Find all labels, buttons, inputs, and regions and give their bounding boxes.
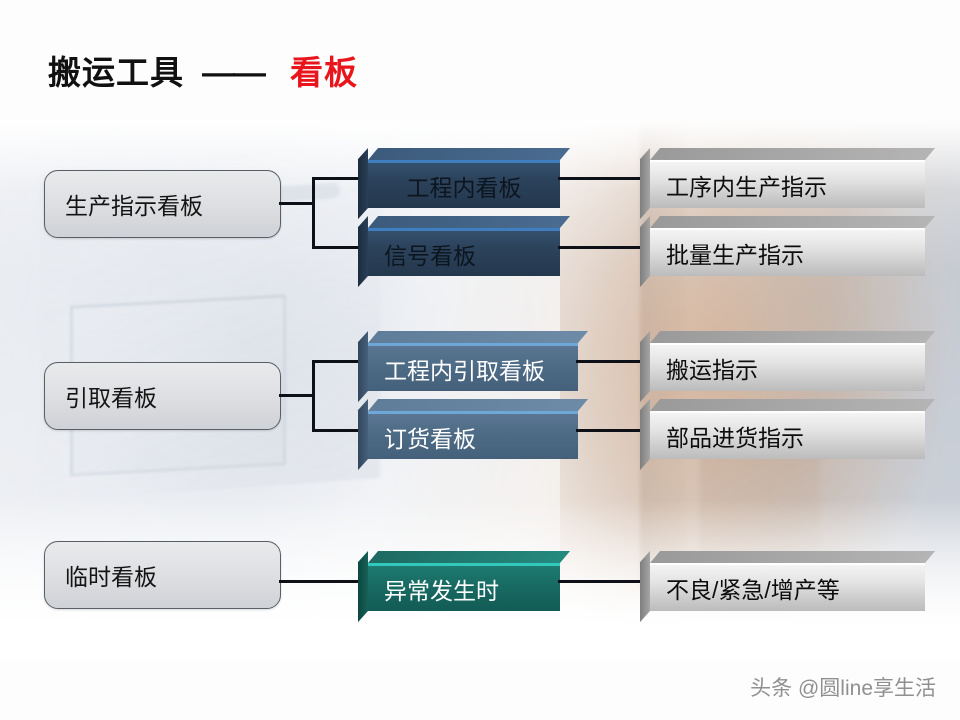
instruction-box-3a-left-bevel <box>640 551 650 622</box>
connector-stem-3 <box>279 580 362 583</box>
kanban-box-2a-left-bevel <box>358 331 368 402</box>
page-title-dash: —— <box>202 54 264 92</box>
kanban-box-2b-left-bevel <box>358 399 368 470</box>
instruction-box-1b-face: 批量生产指示 <box>650 228 925 276</box>
kanban-label-1a: 工程内看板 <box>368 169 560 203</box>
connector-mid-right-1a <box>558 177 646 180</box>
instruction-box-2b[interactable]: 部品进货指示 <box>640 399 925 459</box>
kanban-box-2a[interactable]: 工程内引取看板 <box>358 331 578 391</box>
instruction-box-1a-face: 工序内生产指示 <box>650 160 925 208</box>
slide-canvas: 搬运工具——看板 生产指示看板 工程内看板 信号看板 工序内生产指示 <box>0 0 960 720</box>
category-box-2[interactable]: 引取看板 <box>44 362 281 430</box>
instruction-box-2b-top-bevel <box>650 399 935 411</box>
connector-branch-2b <box>312 429 362 432</box>
category-box-3[interactable]: 临时看板 <box>44 541 281 609</box>
kanban-label-1b: 信号看板 <box>368 237 476 271</box>
connector-branch-1b <box>312 246 362 249</box>
connector-branch-1a <box>312 177 362 180</box>
kanban-box-1a-top-bevel <box>368 148 570 160</box>
connector-mid-right-2a <box>576 360 646 363</box>
kanban-label-2b: 订货看板 <box>368 420 476 454</box>
category-label-2: 引取看板 <box>45 379 157 413</box>
kanban-box-3a-face: 异常发生时 <box>368 563 560 611</box>
category-label-1: 生产指示看板 <box>45 187 203 221</box>
instruction-label-1a: 工序内生产指示 <box>650 168 827 202</box>
category-box-1[interactable]: 生产指示看板 <box>44 170 281 238</box>
instruction-box-1a[interactable]: 工序内生产指示 <box>640 148 925 208</box>
page-title-accent: 看板 <box>290 54 358 91</box>
instruction-box-3a[interactable]: 不良/紧急/增产等 <box>640 551 925 611</box>
kanban-label-2a: 工程内引取看板 <box>368 352 545 386</box>
kanban-box-2a-top-bevel <box>368 331 588 343</box>
connector-mid-right-2b <box>576 429 646 432</box>
kanban-box-2b-top-bevel <box>368 399 588 411</box>
instruction-box-1b[interactable]: 批量生产指示 <box>640 216 925 276</box>
instruction-box-2a-face: 搬运指示 <box>650 343 925 391</box>
instruction-box-3a-face: 不良/紧急/增产等 <box>650 563 925 611</box>
connector-branch-2a <box>312 360 362 363</box>
connector-stem-1 <box>279 202 314 205</box>
connector-stem-2 <box>279 394 314 397</box>
kanban-box-1a-face: 工程内看板 <box>368 160 560 208</box>
connector-mid-right-3a <box>558 580 646 583</box>
instruction-box-3a-top-bevel <box>650 551 935 563</box>
kanban-box-1b-face: 信号看板 <box>368 228 560 276</box>
instruction-box-1b-top-bevel <box>650 216 935 228</box>
instruction-box-2a[interactable]: 搬运指示 <box>640 331 925 391</box>
kanban-box-1a-left-bevel <box>358 148 368 219</box>
kanban-box-1a[interactable]: 工程内看板 <box>358 148 560 208</box>
connector-mid-right-1b <box>558 246 646 249</box>
kanban-box-1b-top-bevel <box>368 216 570 228</box>
instruction-label-2a: 搬运指示 <box>650 351 758 385</box>
kanban-box-2b-face: 订货看板 <box>368 411 578 459</box>
instruction-box-2a-top-bevel <box>650 331 935 343</box>
kanban-box-1b[interactable]: 信号看板 <box>358 216 560 276</box>
page-title: 搬运工具——看板 <box>48 46 358 94</box>
connector-spine-1 <box>312 178 315 248</box>
instruction-box-1b-left-bevel <box>640 216 650 287</box>
page-title-main: 搬运工具 <box>48 54 184 91</box>
instruction-box-2b-left-bevel <box>640 399 650 470</box>
instruction-box-2b-face: 部品进货指示 <box>650 411 925 459</box>
instruction-box-2a-left-bevel <box>640 331 650 402</box>
kanban-box-2b[interactable]: 订货看板 <box>358 399 578 459</box>
instruction-box-1a-top-bevel <box>650 148 935 160</box>
kanban-box-3a-left-bevel <box>358 551 368 622</box>
instruction-label-3a: 不良/紧急/增产等 <box>650 571 840 605</box>
kanban-box-1b-left-bevel <box>358 216 368 287</box>
instruction-box-1a-left-bevel <box>640 148 650 219</box>
instruction-label-1b: 批量生产指示 <box>650 236 804 270</box>
kanban-box-3a[interactable]: 异常发生时 <box>358 551 560 611</box>
connector-spine-2 <box>312 361 315 431</box>
kanban-box-2a-face: 工程内引取看板 <box>368 343 578 391</box>
instruction-label-2b: 部品进货指示 <box>650 419 804 453</box>
kanban-box-3a-top-bevel <box>368 551 570 563</box>
watermark: 头条 @圆line享生活 <box>750 672 936 702</box>
kanban-label-3a: 异常发生时 <box>368 572 499 606</box>
category-label-3: 临时看板 <box>45 558 157 592</box>
